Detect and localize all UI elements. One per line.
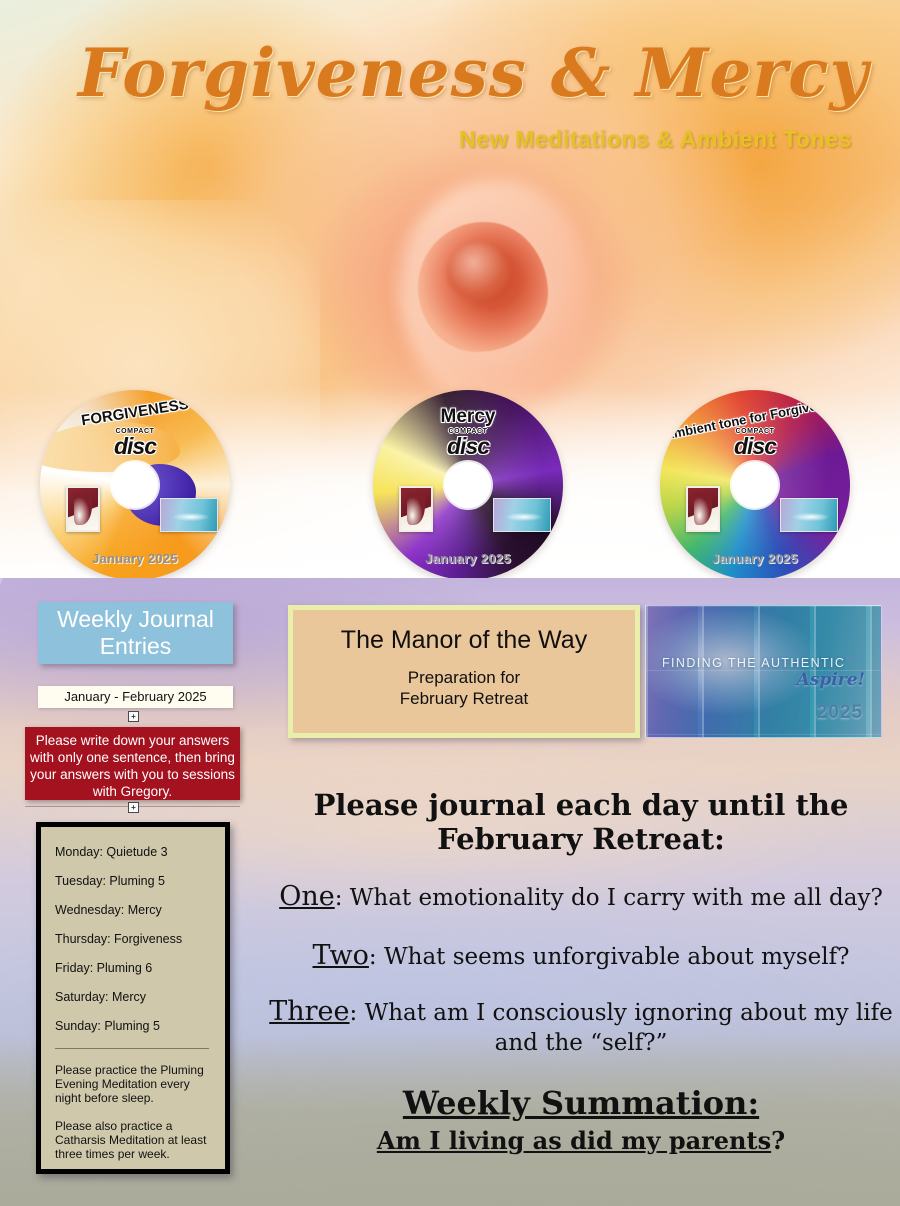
- question-colon: :: [335, 885, 350, 911]
- list-item: Thursday: Forgiveness: [55, 932, 215, 946]
- practice-note-catharsis: Please also practice a Catharsis Meditat…: [55, 1119, 215, 1161]
- list-item: Saturday: Mercy: [55, 990, 215, 1004]
- cd-center-hole: [112, 462, 158, 508]
- weekly-summation-heading: Weekly Summation:: [262, 1084, 900, 1122]
- banner-title: FINDING THE AUTHENTIC: [662, 656, 845, 670]
- disc-label: disc: [373, 435, 563, 458]
- journal-instruction-note: Please write down your answers with only…: [25, 727, 240, 800]
- cd-landscape-icon: [780, 498, 838, 532]
- cd-brand-icon: [66, 486, 100, 532]
- cd-date: January 2025: [40, 551, 230, 566]
- cd-ambient-tone: Ambient tone for Forgiveness COMPACT dis…: [660, 390, 850, 580]
- sparkle-icon: ✦: [844, 650, 857, 668]
- cd-brand-icon: [686, 486, 720, 532]
- journal-question-two: Two: What seems unforgivable about mysel…: [262, 940, 900, 971]
- list-item: Friday: Pluming 6: [55, 961, 215, 975]
- list-item: Sunday: Pluming 5: [55, 1019, 215, 1033]
- manor-subtitle-line2: February Retreat: [293, 688, 635, 709]
- question-colon: :: [350, 1000, 365, 1026]
- summation-heading-text: Weekly Summation:: [403, 1084, 759, 1122]
- finding-the-authentic-banner: FINDING THE AUTHENTIC ✦ Aspire! 2025: [645, 605, 882, 738]
- journal-question-one: One: What emotionality do I carry with m…: [262, 881, 900, 912]
- manor-subtitle: Preparation for February Retreat: [293, 667, 635, 709]
- journal-question-three: Three: What am I consciously ignoring ab…: [262, 997, 900, 1058]
- cd-brand-icon: [399, 486, 433, 532]
- compact-disc-logo: COMPACT disc: [660, 428, 850, 458]
- page-title: Forgiveness & Mercy: [78, 34, 869, 112]
- question-lead: Three: [269, 996, 349, 1027]
- banner-year: 2025: [817, 702, 863, 724]
- text-overflow-marker[interactable]: [128, 802, 139, 813]
- cd-title: Mercy: [373, 406, 563, 428]
- summation-question-text: Am I living as did my parents: [377, 1126, 771, 1155]
- question-colon: :: [369, 944, 384, 970]
- list-item: Wednesday: Mercy: [55, 903, 215, 917]
- cd-date: January 2025: [373, 551, 563, 566]
- manor-subtitle-line1: Preparation for: [293, 667, 635, 688]
- disc-label: disc: [40, 435, 230, 458]
- disc-label: disc: [660, 435, 850, 458]
- question-text: What emotionality do I carry with me all…: [350, 885, 883, 911]
- summation-question-mark: ?: [771, 1126, 785, 1155]
- cd-mercy: Mercy COMPACT disc January 2025: [373, 390, 563, 580]
- banner-script-text: Aspire!: [797, 670, 865, 690]
- newsletter-page: Forgiveness & Mercy New Meditations & Am…: [0, 0, 900, 1206]
- cd-date: January 2025: [660, 551, 850, 566]
- cd-center-hole: [732, 462, 778, 508]
- compact-disc-logo: COMPACT disc: [373, 428, 563, 458]
- list-item: Tuesday: Pluming 5: [55, 874, 215, 888]
- compact-disc-logo: COMPACT disc: [40, 428, 230, 458]
- practice-note-evening: Please practice the Pluming Evening Medi…: [55, 1063, 215, 1105]
- page-subtitle: New Meditations & Ambient Tones: [459, 126, 852, 153]
- rose-center-spiral: [418, 222, 548, 352]
- divider: [55, 1048, 209, 1049]
- manor-of-the-way-box: The Manor of the Way Preparation for Feb…: [288, 605, 640, 738]
- cd-landscape-icon: [160, 498, 218, 532]
- question-lead: One: [279, 881, 335, 912]
- list-item: Monday: Quietude 3: [55, 845, 215, 859]
- weekly-schedule-box: Monday: Quietude 3 Tuesday: Pluming 5 We…: [36, 822, 230, 1174]
- journal-date-range: January - February 2025: [38, 686, 233, 708]
- text-overflow-marker[interactable]: [128, 711, 139, 722]
- question-text: What am I consciously ignoring about my …: [365, 1000, 893, 1056]
- journal-heading: Weekly Journal Entries: [38, 602, 233, 664]
- journal-prompt-heading: Please journal each day until the Februa…: [262, 788, 900, 856]
- cd-landscape-icon: [493, 498, 551, 532]
- question-lead: Two: [313, 940, 369, 971]
- manor-title: The Manor of the Way: [293, 626, 635, 655]
- question-text: What seems unforgivable about myself?: [384, 944, 850, 970]
- weekly-summation-question: Am I living as did my parents?: [262, 1126, 900, 1155]
- cd-center-hole: [445, 462, 491, 508]
- cd-forgiveness: FORGIVENESS COMPACT disc January 2025: [40, 390, 230, 580]
